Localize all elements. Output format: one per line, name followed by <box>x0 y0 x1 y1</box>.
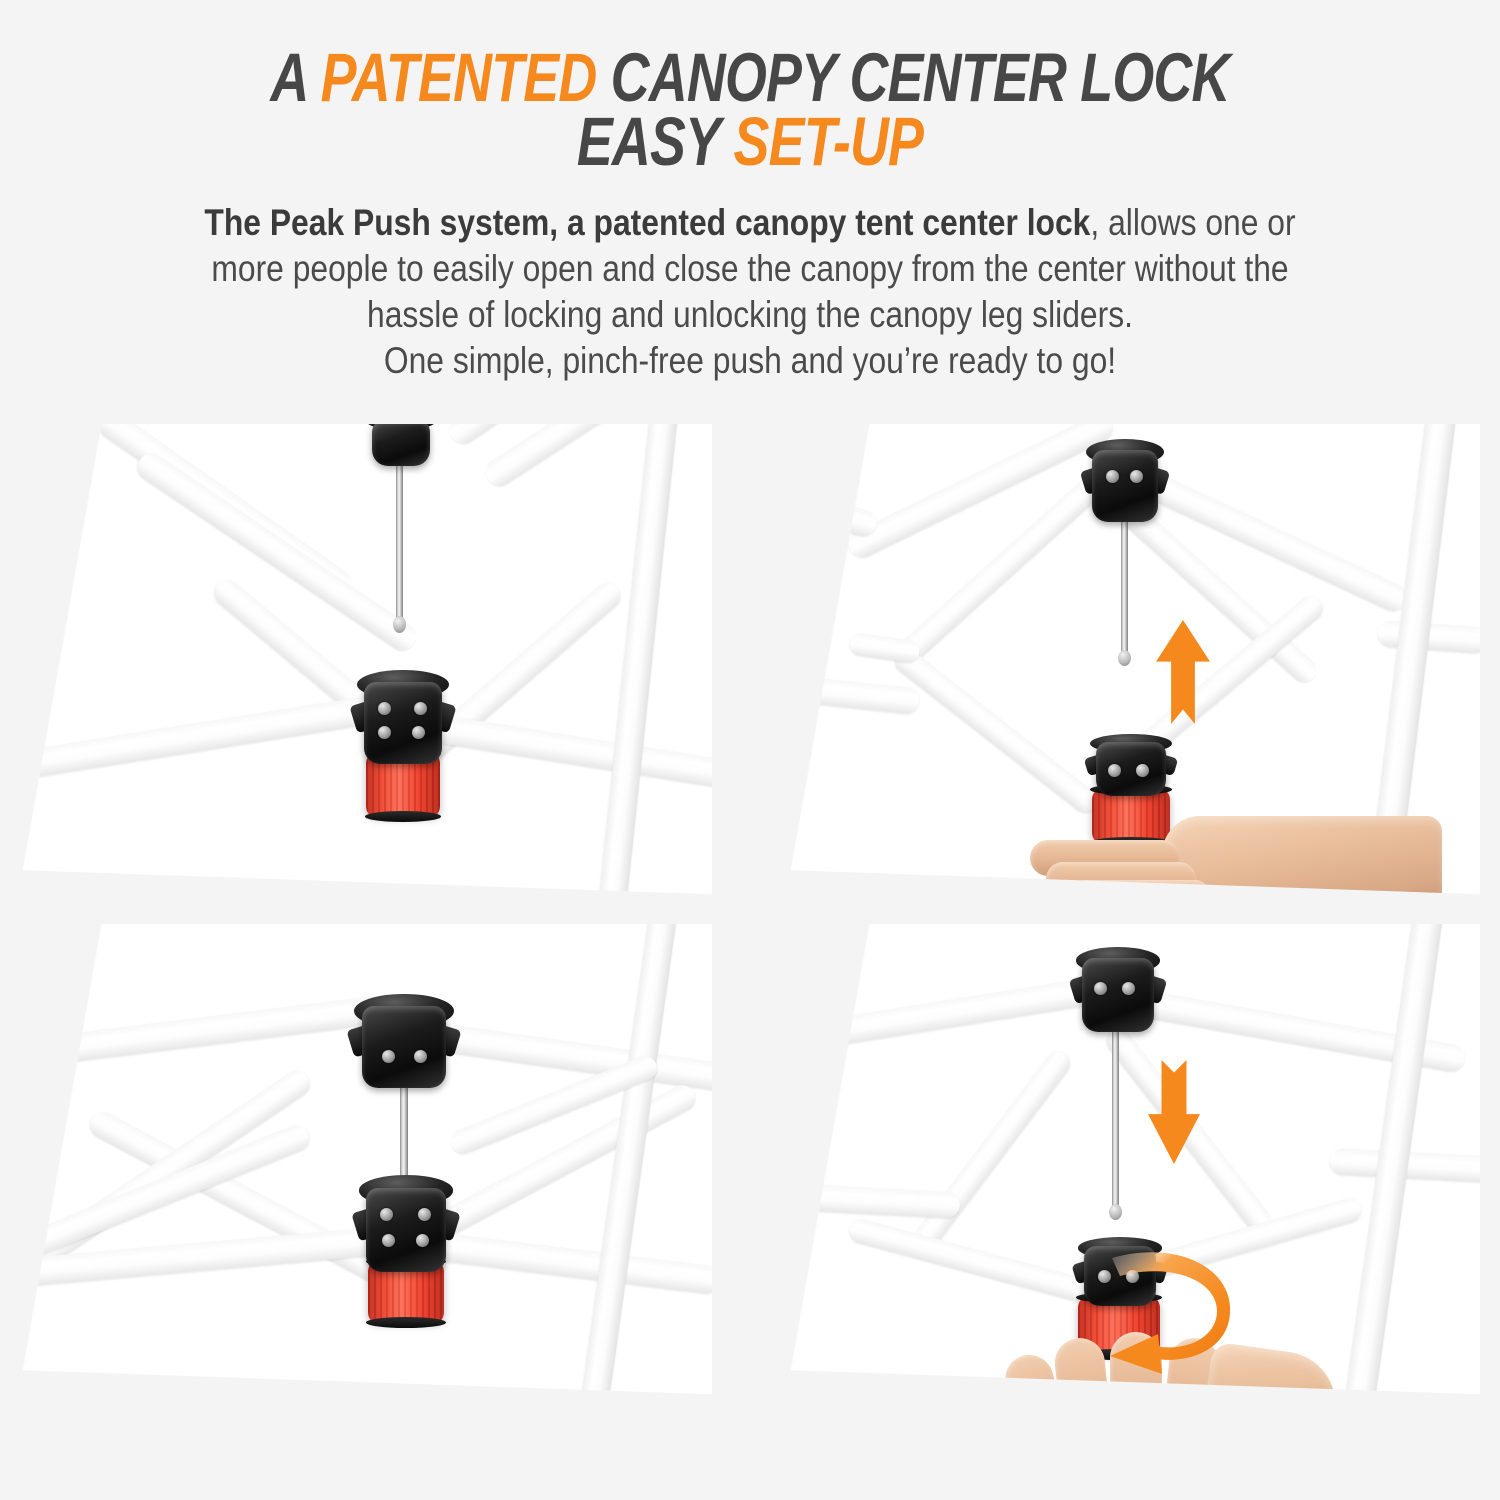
screw-icon <box>378 702 391 715</box>
push-rod-tip-icon <box>1109 1204 1122 1220</box>
pole-icon <box>790 1182 960 1218</box>
page-title: A PATENTED CANOPY CENTER LOCK EASY SET-U… <box>165 46 1335 174</box>
hub-body-icon <box>362 1006 446 1088</box>
description-last-line: One simple, pinch-free push and you’re r… <box>384 340 1116 381</box>
push-rod-tip-icon <box>1118 650 1131 666</box>
panel-bottom-left <box>22 924 712 1394</box>
screw-icon <box>1122 982 1135 995</box>
product-photo-locked-open <box>22 924 712 1394</box>
pole-icon <box>596 424 680 894</box>
push-rod-icon <box>1112 1022 1119 1210</box>
pole-icon <box>891 645 1103 818</box>
panel-top-left <box>22 424 712 894</box>
screw-icon <box>1108 764 1121 777</box>
hub-body-icon <box>372 424 430 466</box>
push-rod-icon <box>396 452 403 622</box>
screw-icon <box>1106 470 1119 483</box>
title-line-2: EASY SET-UP <box>165 110 1335 174</box>
push-rod-tip-icon <box>393 616 406 633</box>
hub-body-icon <box>364 682 442 764</box>
infographic-page: A PATENTED CANOPY CENTER LOCK EASY SET-U… <box>0 0 1500 1500</box>
screw-icon <box>412 726 425 739</box>
center-lock-hub-icon <box>366 1188 446 1272</box>
screw-icon <box>414 702 427 715</box>
knob-rim-icon <box>366 1317 445 1328</box>
hub-body-icon <box>366 1188 446 1272</box>
open-hand-icon <box>1012 810 1442 894</box>
screw-icon <box>378 726 391 739</box>
hub-body-icon <box>1092 450 1158 522</box>
upper-cap-icon <box>1082 958 1154 1032</box>
screw-icon <box>382 1050 395 1063</box>
center-lock-hub-icon <box>1096 742 1166 796</box>
pole-icon <box>790 974 1118 1057</box>
screw-icon <box>1094 982 1107 995</box>
hub-body-icon <box>1082 958 1154 1032</box>
screw-icon <box>416 1234 429 1247</box>
upper-cap-icon <box>372 424 430 466</box>
hub-body-icon <box>1096 742 1166 796</box>
pole-icon <box>481 424 712 491</box>
screw-icon <box>414 1050 427 1063</box>
pole-icon <box>22 993 401 1070</box>
title-line-1: A PATENTED CANOPY CENTER LOCK <box>165 46 1335 110</box>
push-rod-icon <box>1121 512 1128 656</box>
screw-icon <box>1130 470 1143 483</box>
finger-icon <box>1070 880 1210 894</box>
description-bold-lead: The Peak Push system, a patented canopy … <box>204 202 1090 243</box>
description-text: The Peak Push system, a patented canopy … <box>174 200 1326 384</box>
product-photo-collapsed <box>22 424 712 894</box>
title-line1-accent: PATENTED <box>321 39 597 116</box>
upper-cap-icon <box>1092 450 1158 522</box>
product-photo-push-up <box>790 424 1480 894</box>
screw-icon <box>382 1234 395 1247</box>
center-lock-hub-icon <box>364 682 442 764</box>
pole-icon <box>910 1047 1074 1253</box>
knob-rim-icon <box>365 811 442 822</box>
rotate-arrow-icon <box>1054 1238 1254 1388</box>
panel-top-right <box>790 424 1480 894</box>
upper-cap-icon <box>362 1006 446 1088</box>
pole-icon <box>420 712 712 791</box>
product-photo-twist-release <box>790 924 1480 1394</box>
screw-icon <box>380 1208 393 1221</box>
pole-icon <box>790 482 879 538</box>
panel-grid <box>0 420 1500 1420</box>
screw-icon <box>1136 764 1149 777</box>
pole-icon <box>790 672 920 715</box>
screw-icon <box>418 1208 431 1221</box>
title-line2-accent: SET-UP <box>733 103 923 180</box>
title-line2-prefix: EASY <box>577 103 734 180</box>
panel-bottom-right <box>790 924 1480 1394</box>
title-line1-prefix: A <box>270 39 320 116</box>
